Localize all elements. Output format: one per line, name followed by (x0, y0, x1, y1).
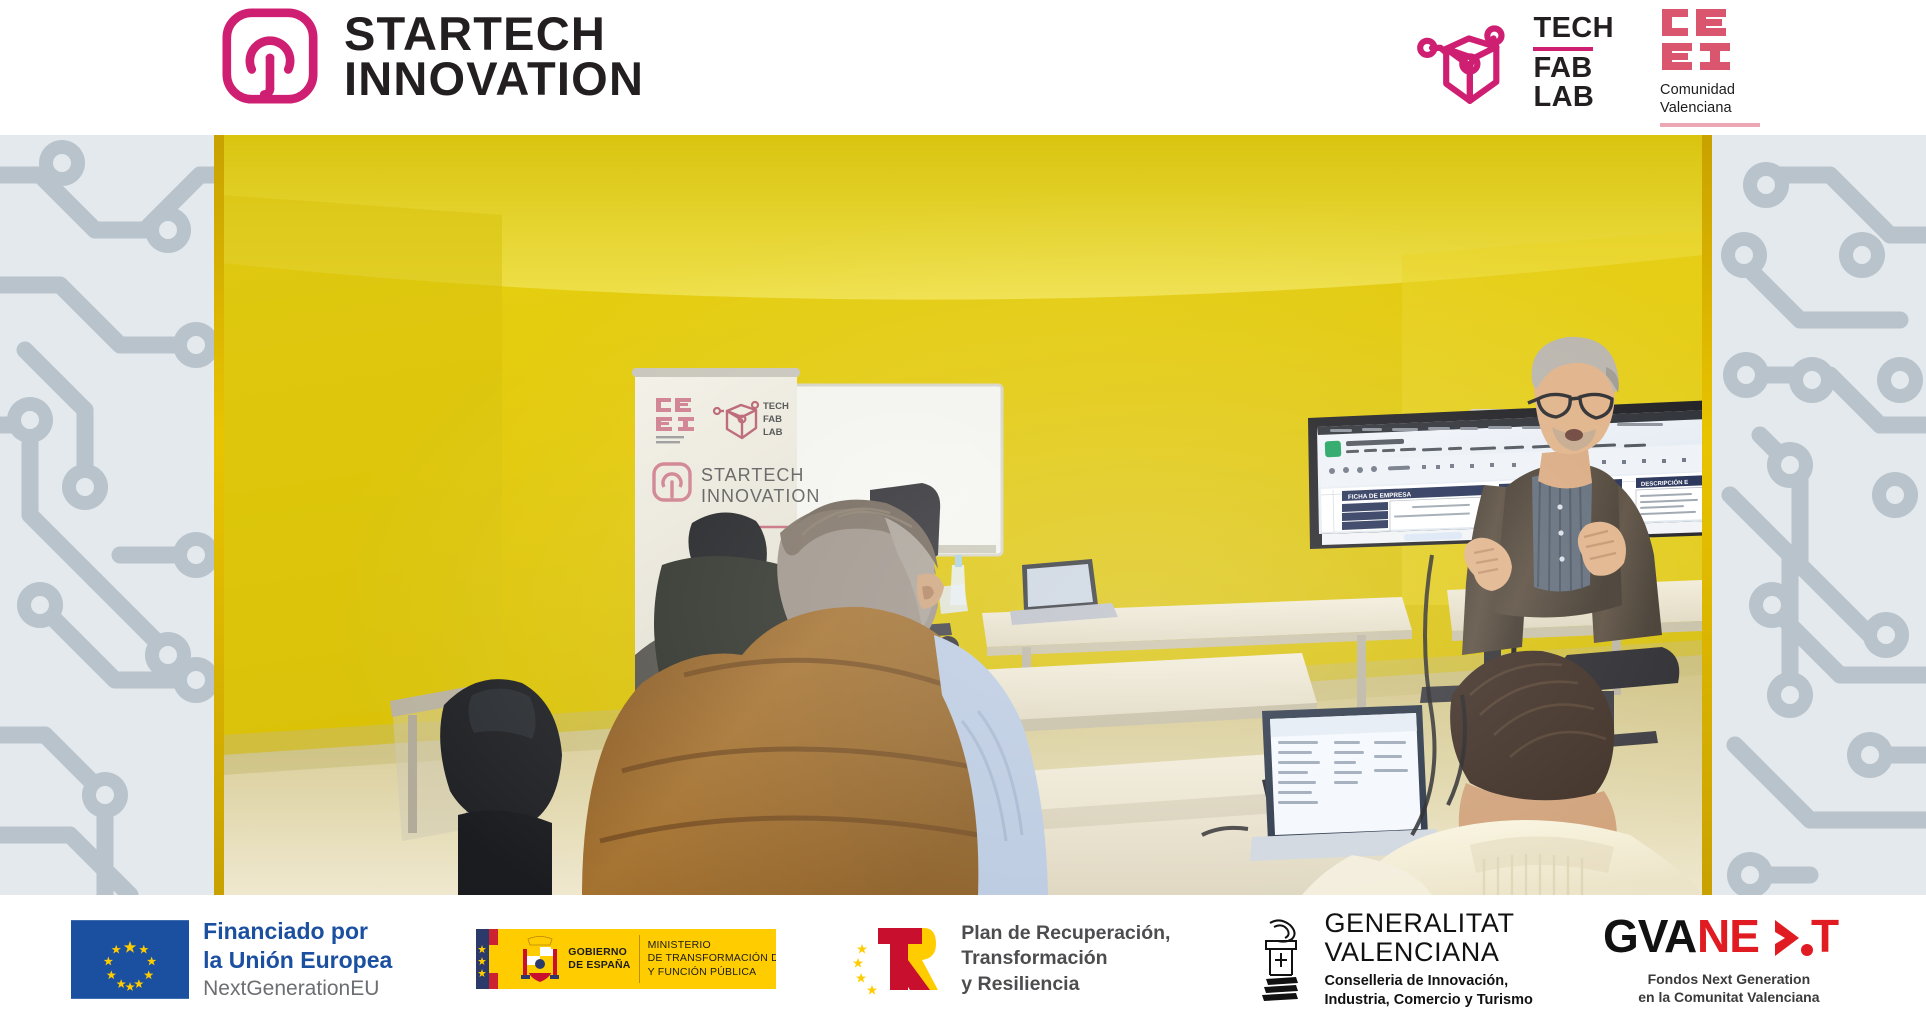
gva-next-wordmark-icon: GVA NE T (1603, 912, 1855, 964)
gobierno-divider (639, 935, 640, 983)
hero-band: TECH FAB LAB STARTECH INNOVATION (0, 135, 1926, 895)
plan-recuperacion-logo: Plan de Recuperación, Transformación y R… (852, 920, 1170, 998)
tech-fab-lab-line2: FAB (1533, 54, 1614, 84)
conselleria-line2: Industria, Comercio y Turismo (1324, 991, 1532, 1010)
eu-flag-icon (71, 920, 189, 999)
accent-bar-right (1702, 135, 1712, 895)
tech-fab-lab-line1: TECH (1533, 14, 1614, 44)
gobierno-line2: DE ESPAÑA (568, 959, 630, 972)
gobierno-de-espana-logo: GOBIERNO DE ESPAÑA MINISTERIO DE TRANSFO… (476, 929, 776, 989)
gva-next-sub-line1: Fondos Next Generation (1638, 970, 1819, 988)
tech-fab-lab-logo: TECH FAB LAB (1415, 14, 1614, 113)
gobierno-line1: GOBIERNO (568, 946, 630, 959)
plan-line2: Transformación (961, 946, 1170, 971)
ceei-logo: Comunidad Valenciana (1660, 6, 1776, 127)
svg-text:GVA: GVA (1603, 912, 1696, 962)
svg-text:T: T (1811, 912, 1839, 962)
startech-logo-line1: STARTECH (344, 11, 644, 56)
page-header: STARTECH INNOVATION TECH (0, 0, 1926, 135)
event-photo-scene: TECH FAB LAB STARTECH INNOVATION (222, 135, 1702, 895)
ministry-line1: MINISTERIO (648, 939, 777, 953)
eu-funding-logo: Financiado por la Unión Europea NextGene… (71, 917, 392, 1000)
generalitat-valenciana-shield-icon (1252, 917, 1312, 1001)
plan-line1: Plan de Recuperación, (961, 921, 1170, 946)
tech-fab-lab-rule (1533, 47, 1593, 51)
conselleria-line1: Conselleria de Innovación, (1324, 972, 1532, 991)
eu-text-line1: Financiado por (203, 917, 392, 945)
header-partner-logos: TECH FAB LAB (1415, 6, 1776, 127)
ceei-subtitle-line1: Comunidad (1660, 81, 1776, 99)
accent-bar-left (214, 135, 224, 895)
ceei-underline (1660, 123, 1760, 127)
generalitat-line2: VALENCIANA (1324, 938, 1532, 967)
spain-coat-of-arms-icon (519, 933, 561, 985)
tech-fab-lab-cube-icon (1415, 15, 1519, 111)
event-photo: TECH FAB LAB STARTECH INNOVATION (222, 135, 1702, 895)
gva-next-sub-line2: en la Comunitat Valenciana (1638, 988, 1819, 1006)
ministry-line2: DE TRANSFORMACIÓN DIGITAL (648, 952, 777, 966)
eu-text-line2: la Unión Europea (203, 946, 392, 974)
plan-line3: y Resiliencia (961, 972, 1170, 997)
ceei-subtitle-line2: Valenciana (1660, 99, 1776, 117)
generalitat-valenciana-logo: GENERALITAT VALENCIANA Conselleria de In… (1252, 909, 1532, 1009)
startech-pin-icon (222, 8, 318, 104)
ceei-logo-icon (1660, 6, 1764, 74)
ptr-monogram-icon (852, 920, 948, 998)
funding-footer: Financiado por la Unión Europea NextGene… (0, 895, 1926, 1023)
gva-next-logo: GVA NE T Fondos Next Generation en la Co… (1603, 912, 1855, 1006)
startech-innovation-logo: STARTECH INNOVATION (222, 8, 644, 104)
eu-text-line3: NextGenerationEU (203, 977, 392, 1001)
svg-text:NE: NE (1697, 912, 1759, 962)
tech-fab-lab-line3: LAB (1533, 83, 1614, 113)
startech-logo-line2: INNOVATION (344, 56, 644, 101)
generalitat-line1: GENERALITAT (1324, 909, 1532, 938)
spain-flag-stripes-icon (476, 929, 514, 989)
ministry-line3: Y FUNCIÓN PÚBLICA (648, 966, 777, 980)
